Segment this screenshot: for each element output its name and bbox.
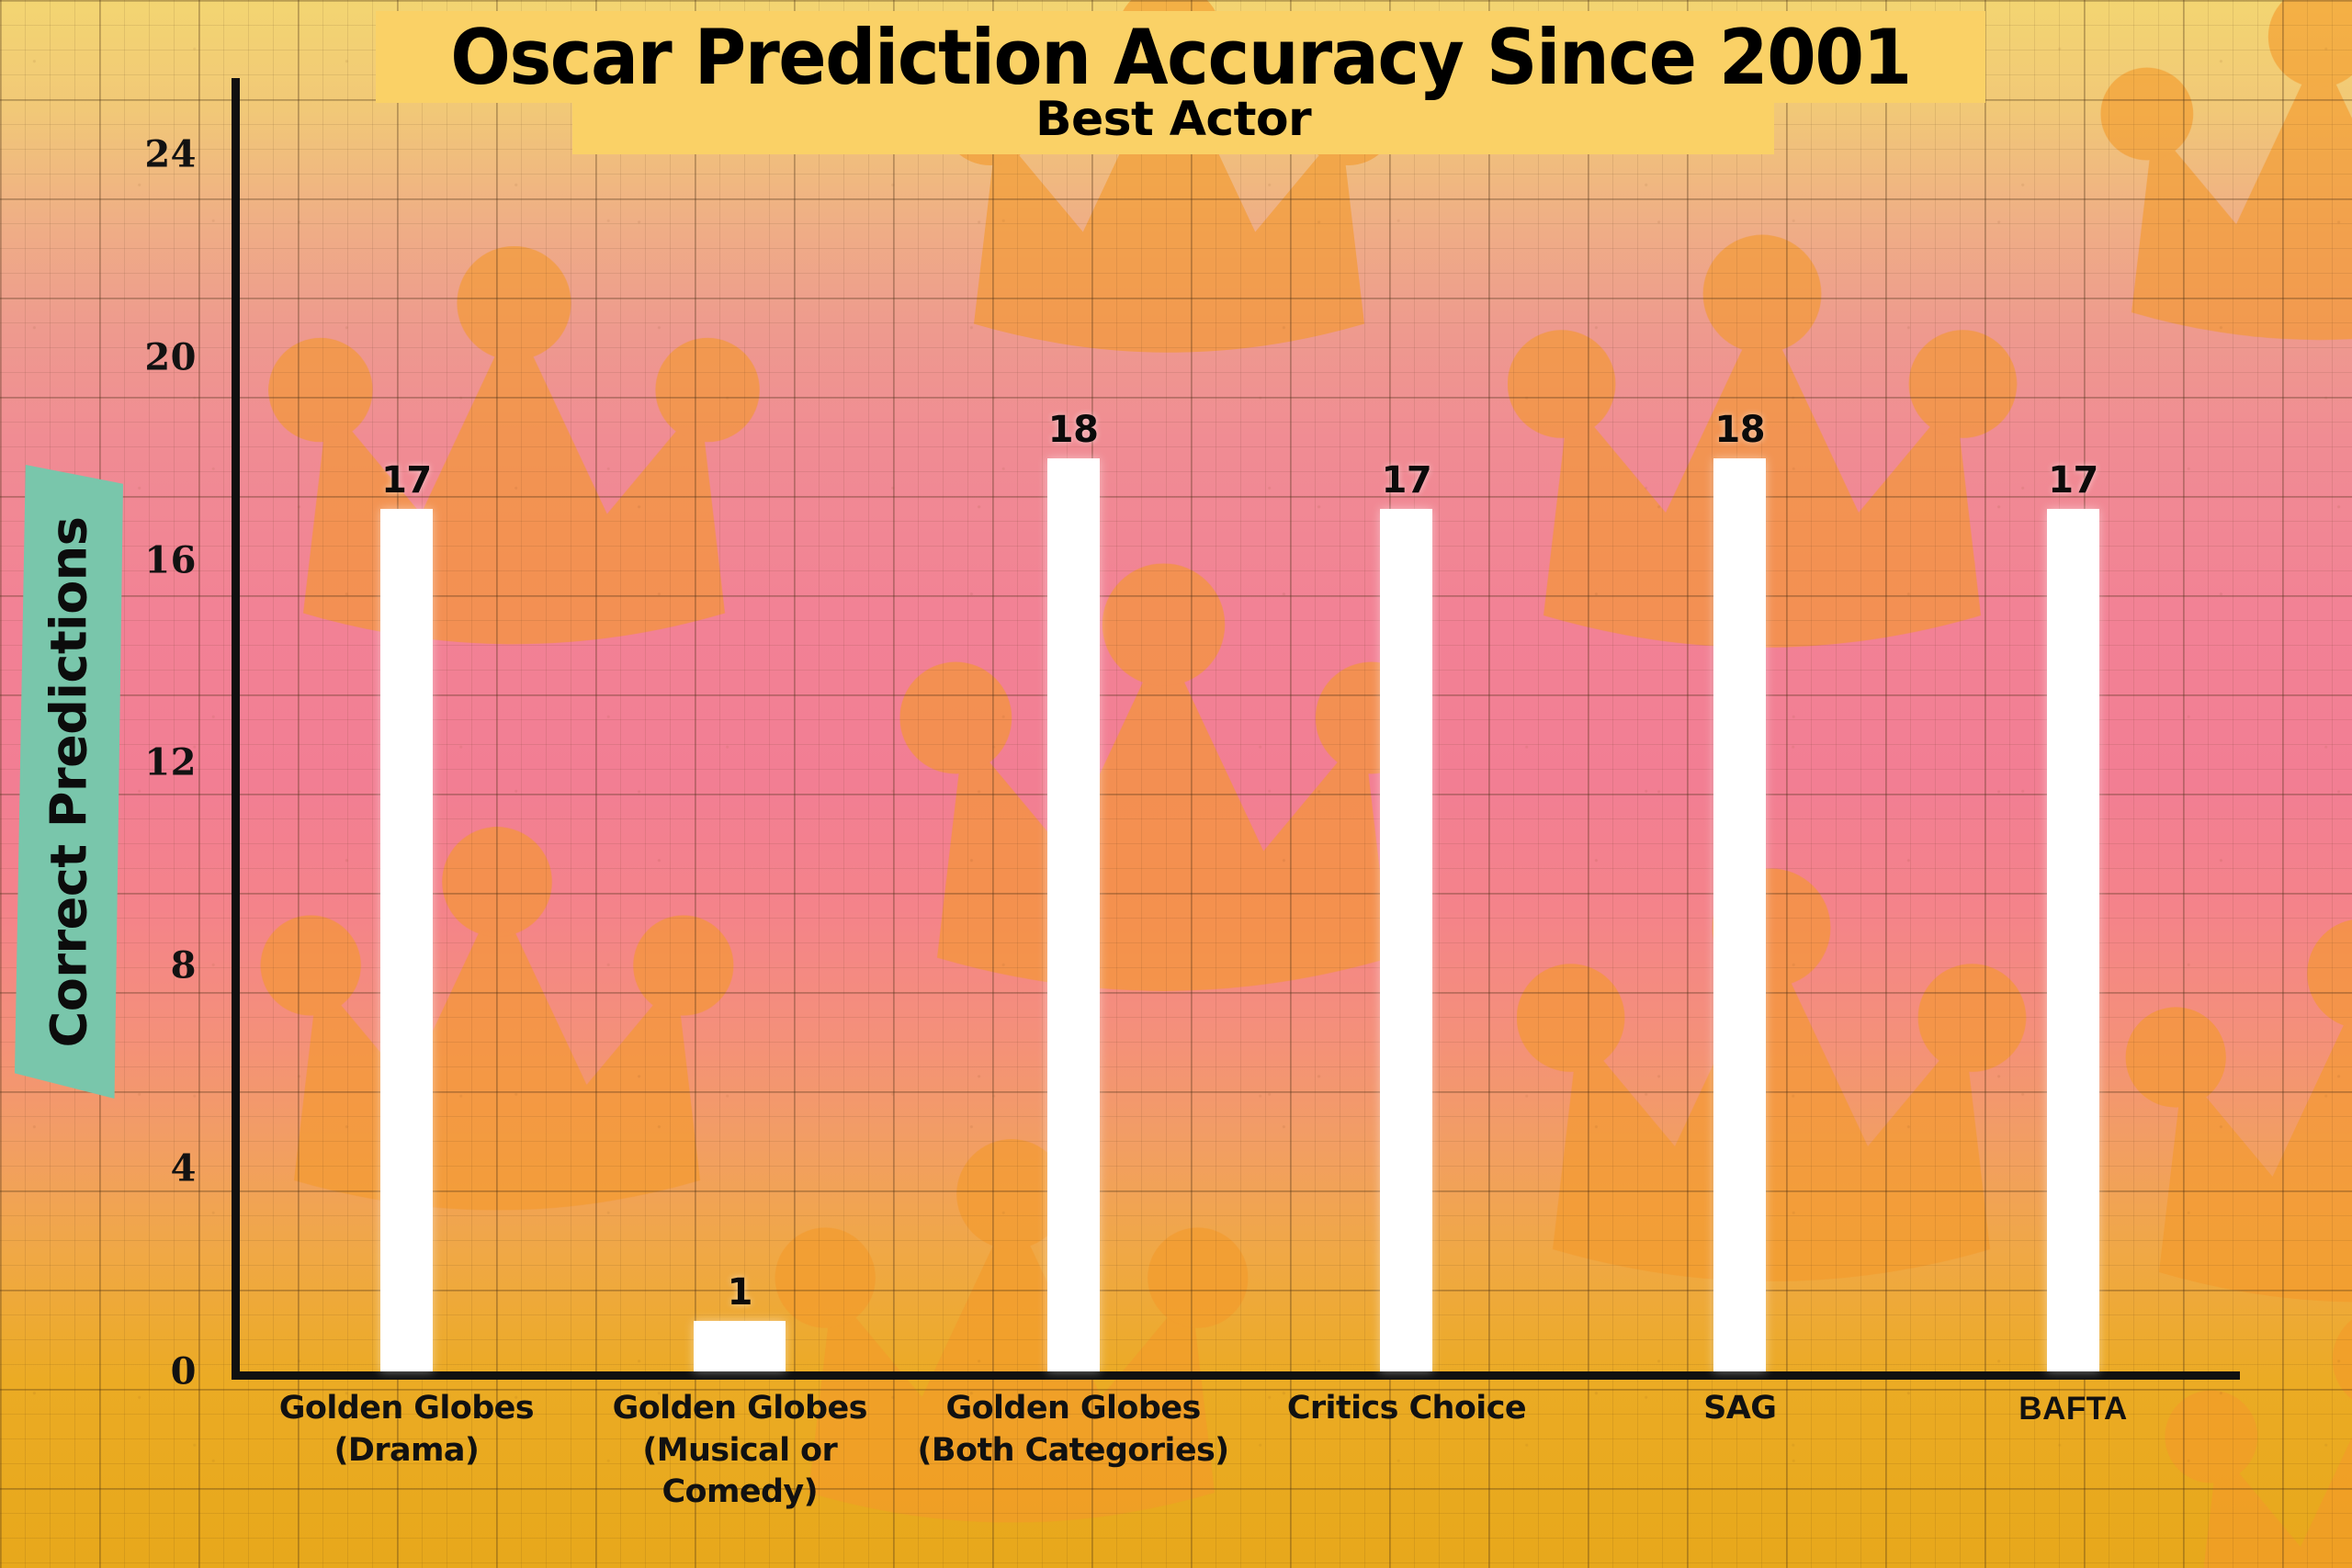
x-tick-label-line1: Golden Globes — [613, 1390, 867, 1427]
bar-wrapper: 18 — [907, 412, 1240, 1371]
x-tick-label-line1: SAG — [1703, 1390, 1776, 1427]
bar[interactable] — [694, 1321, 786, 1371]
y-tick-4: 4 — [171, 1147, 197, 1190]
bar[interactable] — [1380, 509, 1432, 1371]
bar-wrapper: 17 — [1906, 462, 2240, 1371]
bar[interactable] — [2047, 509, 2099, 1371]
bar[interactable] — [1047, 458, 1100, 1371]
bar-group: 17 — [1239, 78, 1573, 1371]
x-tick-label: SAG — [1573, 1388, 1906, 1514]
x-tick-label: Critics Choice — [1239, 1388, 1573, 1514]
bar-wrapper: 17 — [240, 462, 573, 1371]
x-tick-label-line1: Critics Choice — [1287, 1390, 1526, 1427]
bar-group: 17 — [240, 78, 573, 1371]
x-axis-spine — [232, 1371, 2240, 1380]
chart-subtitle: Best Actor — [572, 85, 1774, 154]
bar[interactable] — [380, 509, 433, 1371]
bar-value-label: 17 — [381, 462, 432, 499]
bar-value-label: 18 — [1714, 412, 1765, 448]
bar[interactable] — [1713, 458, 1766, 1371]
y-tick-0: 0 — [171, 1350, 197, 1393]
bar-value-label: 17 — [1382, 462, 1432, 499]
y-tick-24: 24 — [144, 132, 197, 175]
x-tick-label: BAFTA — [1906, 1388, 2240, 1514]
y-tick-16: 16 — [144, 538, 197, 581]
x-tick-label-line2: (Musical or Comedy) — [573, 1430, 907, 1514]
x-tick-label-line2: (Drama) — [240, 1430, 573, 1472]
plot-area: 17118171817 — [232, 78, 2240, 1380]
bar-wrapper: 1 — [573, 1274, 907, 1371]
y-axis-title-ribbon: Correct Predictions — [15, 465, 123, 1099]
bar-value-label: 17 — [2048, 462, 2098, 499]
bar-group: 18 — [907, 78, 1240, 1371]
bar-series: 17118171817 — [240, 78, 2240, 1371]
bar-group: 18 — [1573, 78, 1906, 1371]
bar-value-label: 18 — [1048, 412, 1099, 448]
x-tick-label-line1: Golden Globes — [945, 1390, 1200, 1427]
y-tick-12: 12 — [144, 741, 197, 784]
bar-wrapper: 18 — [1573, 412, 1906, 1371]
x-axis-tick-labels: Golden Globes(Drama)Golden Globes(Musica… — [240, 1388, 2240, 1514]
x-tick-label: Golden Globes(Drama) — [240, 1388, 573, 1514]
bar-wrapper: 17 — [1239, 462, 1573, 1371]
bar-group: 1 — [573, 78, 907, 1371]
x-tick-label: Golden Globes(Musical or Comedy) — [573, 1388, 907, 1514]
x-tick-label: Golden Globes(Both Categories) — [907, 1388, 1240, 1514]
y-axis-spine — [232, 78, 240, 1380]
bar-value-label: 1 — [728, 1274, 752, 1311]
x-tick-label-line1: Golden Globes — [279, 1390, 534, 1427]
x-tick-label-line1: BAFTA — [2018, 1391, 2128, 1427]
y-tick-8: 8 — [171, 944, 197, 987]
y-tick-20: 20 — [144, 335, 197, 378]
bar-group: 17 — [1906, 78, 2240, 1371]
y-axis-title: Correct Predictions — [40, 516, 98, 1047]
x-tick-label-line2: (Both Categories) — [907, 1430, 1240, 1472]
